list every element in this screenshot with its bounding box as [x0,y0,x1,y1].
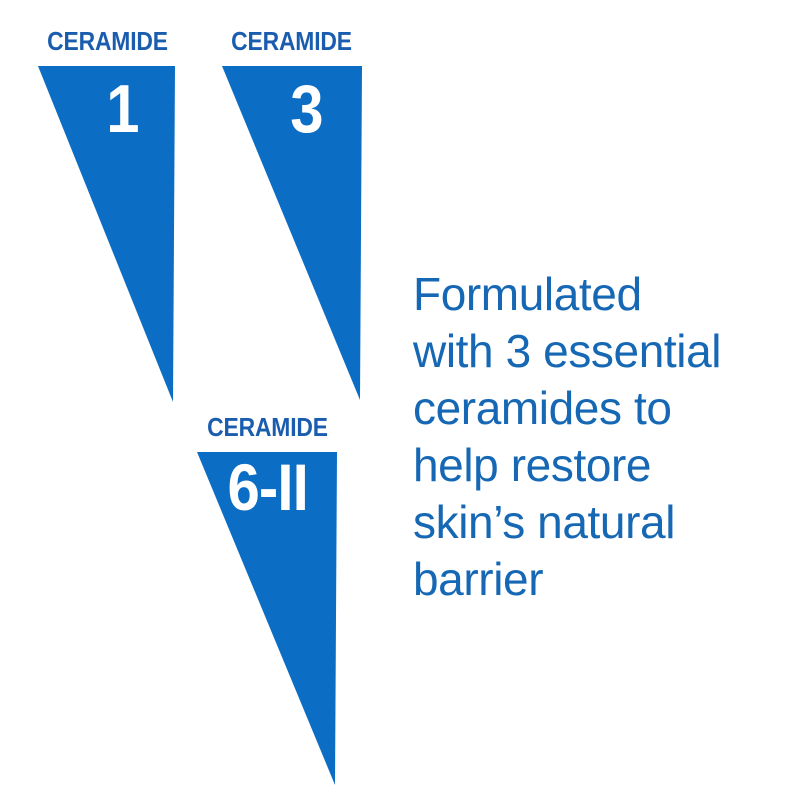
ceramide-number-1: 1 [106,75,139,143]
marketing-copy: Formulated with 3 essential ceramides to… [413,266,783,608]
ceramide-label-1: CERAMIDE [31,26,185,56]
copy-line: help restore [413,437,783,494]
copy-line: Formulated [413,266,783,323]
copy-line: skin’s natural [413,494,783,551]
copy-line: with 3 essential [413,323,783,380]
ceramide-label-3: CERAMIDE [215,26,369,56]
ceramide-number-6-ii: 6-II [227,454,307,520]
copy-line: barrier [413,551,783,608]
ceramide-label-6-ii: CERAMIDE [191,412,345,442]
copy-line: ceramides to [413,380,783,437]
ceramide-infographic: CERAMIDE 1 CERAMIDE 3 CERAMIDE 6-II Form… [0,0,800,800]
ceramide-number-3: 3 [290,75,323,143]
